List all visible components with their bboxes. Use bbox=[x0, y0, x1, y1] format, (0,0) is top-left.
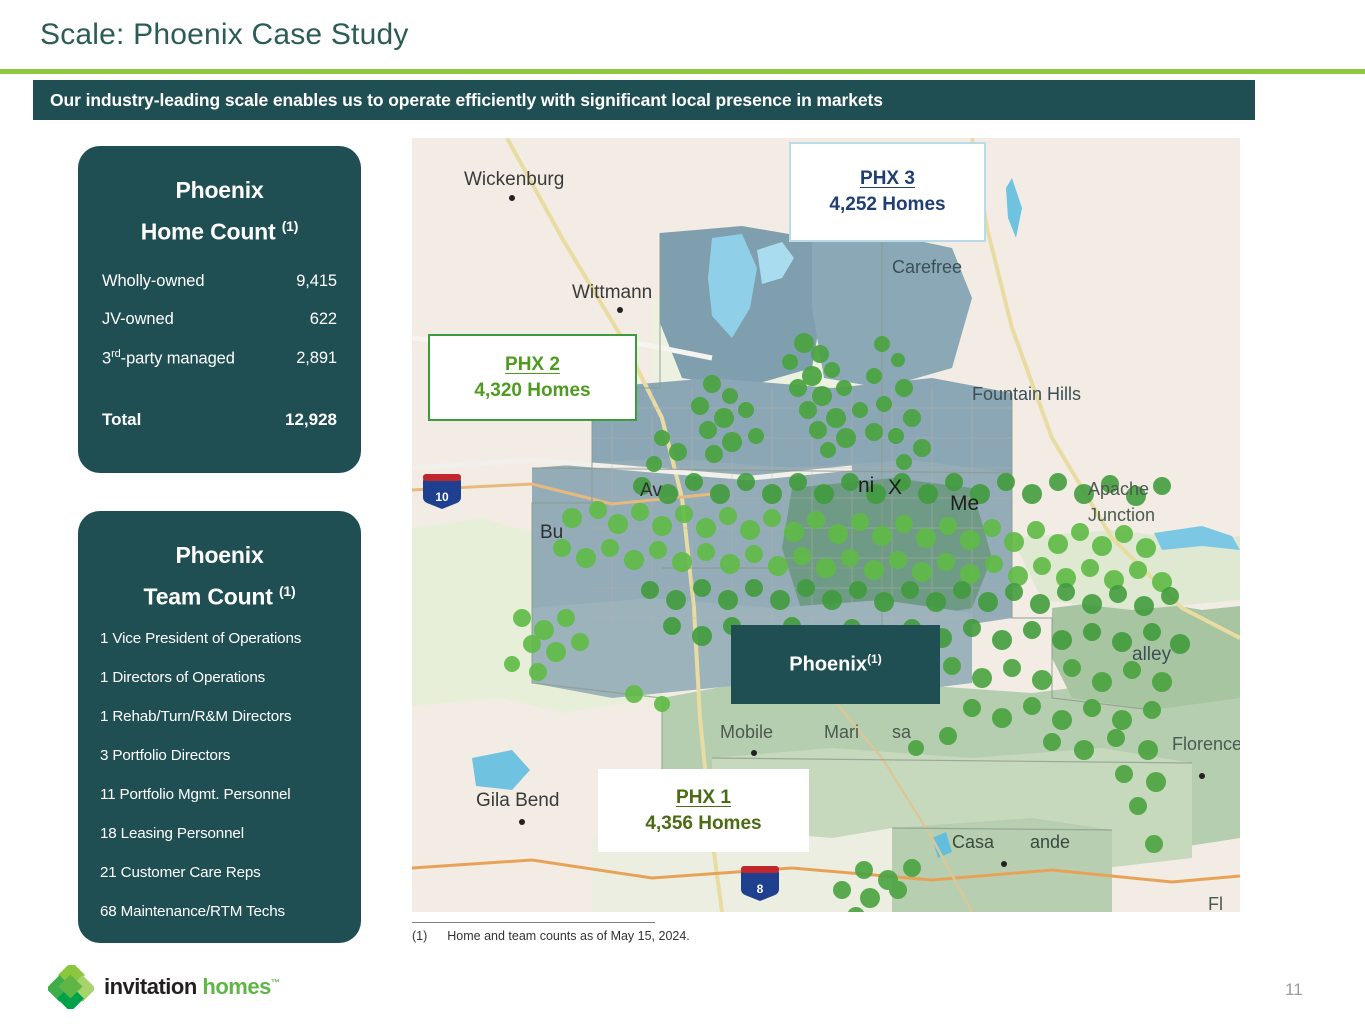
svg-text:sa: sa bbox=[892, 722, 912, 742]
slide: Scale: Phoenix Case Study Our industry-l… bbox=[0, 0, 1365, 1024]
home-count-label: 3rd-party managed bbox=[102, 348, 235, 369]
callout-phx3-homes: 4,252 Homes bbox=[791, 192, 984, 218]
svg-text:X: X bbox=[888, 476, 902, 499]
footnote: (1) Home and team counts as of May 15, 2… bbox=[412, 929, 690, 943]
subtitle-banner: Our industry-leading scale enables us to… bbox=[33, 80, 1255, 120]
svg-text:alley: alley bbox=[1132, 644, 1172, 665]
svg-text:Fountain Hills: Fountain Hills bbox=[972, 384, 1081, 404]
phoenix-property-map[interactable]: Wickenburg Wittmann Carefree Fountain Hi… bbox=[412, 138, 1240, 912]
home-count-value: 622 bbox=[310, 310, 337, 329]
home-count-total-row: Total 12,928 bbox=[78, 410, 361, 430]
svg-text:Me: Me bbox=[950, 492, 979, 515]
svg-text:Gila Bend: Gila Bend bbox=[476, 790, 559, 811]
svg-text:Junction: Junction bbox=[1088, 505, 1155, 525]
invitation-homes-logo: invitation homes™ bbox=[48, 963, 278, 1011]
callout-phx3[interactable]: PHX 3 4,252 Homes bbox=[789, 142, 986, 242]
svg-text:Av: Av bbox=[640, 480, 662, 501]
home-count-label: JV-owned bbox=[102, 310, 174, 329]
list-item: 1 Directors of Operations bbox=[100, 669, 339, 686]
callout-phx2-homes: 4,320 Homes bbox=[430, 378, 635, 404]
list-item: 1 Rehab/Turn/R&M Directors bbox=[100, 708, 339, 725]
svg-text:ande: ande bbox=[1030, 832, 1070, 852]
phoenix-home-count-card: Phoenix Home Count (1) Wholly-owned 9,41… bbox=[78, 146, 361, 473]
svg-text:Wickenburg: Wickenburg bbox=[464, 169, 564, 190]
home-count-title: Phoenix Home Count (1) bbox=[78, 146, 361, 250]
home-count-value: 2,891 bbox=[296, 349, 337, 368]
team-count-list: 1 Vice President of Operations 1 Directo… bbox=[78, 630, 361, 920]
home-count-row: Wholly-owned 9,415 bbox=[102, 272, 337, 291]
svg-text:Mari: Mari bbox=[824, 722, 859, 742]
list-item: 1 Vice President of Operations bbox=[100, 630, 339, 647]
callout-phx2-name: PHX 2 bbox=[430, 352, 635, 378]
home-count-total-label: Total bbox=[102, 410, 141, 430]
svg-text:10: 10 bbox=[435, 490, 449, 504]
callout-phx1-name: PHX 1 bbox=[599, 785, 808, 811]
svg-text:Fl: Fl bbox=[1208, 894, 1223, 912]
home-count-total-value: 12,928 bbox=[285, 410, 337, 430]
market-tag-phoenix: Phoenix(1) bbox=[731, 625, 940, 704]
market-tag-label: Phoenix(1) bbox=[789, 652, 881, 677]
logo-trademark: ™ bbox=[271, 978, 280, 988]
svg-text:Casa: Casa bbox=[952, 832, 995, 852]
logo-word-homes: homes bbox=[202, 974, 270, 999]
accent-rule bbox=[0, 69, 1365, 74]
home-count-rows: Wholly-owned 9,415 JV-owned 622 3rd-part… bbox=[78, 272, 361, 369]
callout-phx2[interactable]: PHX 2 4,320 Homes bbox=[428, 334, 637, 421]
team-count-title: Phoenix Team Count (1) bbox=[78, 511, 361, 615]
phoenix-team-count-card: Phoenix Team Count (1) 1 Vice President … bbox=[78, 511, 361, 943]
list-item: 11 Portfolio Mgmt. Personnel bbox=[100, 786, 339, 803]
list-item: 68 Maintenance/RTM Techs bbox=[100, 903, 339, 920]
home-count-title-line2: Home Count (1) bbox=[78, 208, 361, 250]
home-count-title-footnote: (1) bbox=[282, 218, 299, 234]
list-item: 18 Leasing Personnel bbox=[100, 825, 339, 842]
home-count-value: 9,415 bbox=[296, 272, 337, 291]
page-title: Scale: Phoenix Case Study bbox=[40, 18, 409, 52]
svg-text:Mobile: Mobile bbox=[720, 722, 773, 742]
svg-text:Bu: Bu bbox=[540, 522, 563, 543]
home-count-row: 3rd-party managed 2,891 bbox=[102, 348, 337, 369]
diamond-logo-icon bbox=[48, 965, 94, 1009]
subtitle-text: Our industry-leading scale enables us to… bbox=[33, 90, 883, 111]
svg-text:Carefree: Carefree bbox=[892, 257, 962, 277]
callout-phx1[interactable]: PHX 1 4,356 Homes bbox=[598, 769, 809, 852]
svg-text:ni: ni bbox=[858, 474, 874, 497]
footnote-rule bbox=[412, 922, 655, 923]
svg-text:Wittmann: Wittmann bbox=[572, 282, 652, 303]
footnote-marker: (1) bbox=[412, 929, 427, 943]
svg-text:8: 8 bbox=[757, 882, 764, 896]
team-count-title-line1: Phoenix bbox=[78, 537, 361, 573]
home-count-label: Wholly-owned bbox=[102, 272, 204, 291]
list-item: 21 Customer Care Reps bbox=[100, 864, 339, 881]
page-number: 11 bbox=[1285, 980, 1303, 1000]
footnote-text: Home and team counts as of May 15, 2024. bbox=[447, 929, 690, 943]
home-count-title-line1: Phoenix bbox=[78, 172, 361, 208]
team-count-title-footnote: (1) bbox=[279, 583, 296, 599]
callout-phx1-homes: 4,356 Homes bbox=[599, 811, 808, 837]
map-svg: Wickenburg Wittmann Carefree Fountain Hi… bbox=[412, 138, 1240, 912]
logo-wordmark: invitation homes™ bbox=[104, 974, 279, 1000]
list-item: 3 Portfolio Directors bbox=[100, 747, 339, 764]
callout-phx3-name: PHX 3 bbox=[791, 166, 984, 192]
svg-text:Apache: Apache bbox=[1088, 479, 1149, 499]
team-count-title-line2: Team Count (1) bbox=[78, 573, 361, 615]
logo-word-invitation: invitation bbox=[104, 974, 197, 999]
svg-text:Florence: Florence bbox=[1172, 734, 1240, 754]
home-count-row: JV-owned 622 bbox=[102, 310, 337, 329]
